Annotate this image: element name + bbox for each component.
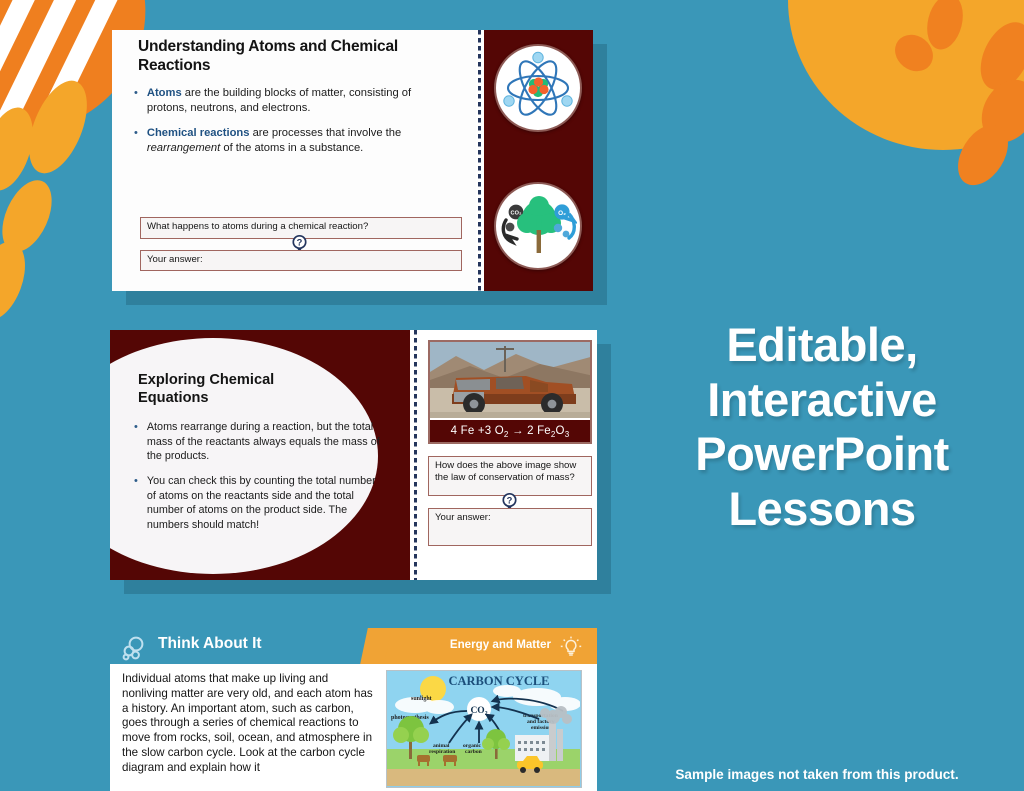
- slide-1-image-pane: CO₂ O₂: [484, 30, 593, 291]
- equation-product-subscript-1: 2: [551, 430, 556, 439]
- svg-text:CARBON CYCLE: CARBON CYCLE: [448, 674, 549, 688]
- list-item: • Atoms rearrange during a reaction, but…: [134, 420, 382, 464]
- slide-2-question-text: How does the above image show the law of…: [435, 460, 576, 483]
- bullet-1-rest: are the building blocks of matter, consi…: [147, 87, 411, 114]
- atom-icon-svg: [501, 51, 575, 125]
- svg-text:respiration: respiration: [429, 749, 456, 755]
- headline-line-3: PowerPoint: [620, 427, 1024, 482]
- amber-ellipse-4: [0, 235, 35, 327]
- slide-1-dotted-divider: [478, 30, 481, 291]
- svg-text:CO₂: CO₂: [470, 706, 487, 716]
- photosynthesis-icon-svg: CO₂ O₂: [499, 190, 577, 262]
- slide-2-bullet-1: Atoms rearrange during a reaction, but t…: [147, 420, 382, 464]
- slide-1-question-text: What happens to atoms during a chemical …: [147, 221, 368, 232]
- slide-2-equation-caption: 4 Fe +3 O2 → 2 Fe2O3: [430, 420, 590, 442]
- lightbulb-icon-svg: [559, 635, 583, 659]
- headline-line-4: Lessons: [620, 482, 1024, 537]
- slide-2-bullet-2: You can check this by counting the total…: [147, 474, 382, 533]
- svg-text:?: ?: [507, 495, 513, 506]
- bubbles-icon: [122, 636, 152, 667]
- bubbles-icon-svg: [122, 636, 152, 662]
- equation-arrow: →: [512, 425, 524, 437]
- list-item: • You can check this by counting the tot…: [134, 474, 382, 533]
- equation-products: 2 Fe: [527, 425, 551, 437]
- photosynthesis-tree-icon: CO₂ O₂: [494, 182, 582, 270]
- bullet-dot-icon: •: [134, 126, 138, 156]
- equation-product-mid: O: [556, 425, 565, 437]
- carbon-cycle-diagram: CARBON CYCLE sunlight photosynthesis ani…: [386, 670, 582, 788]
- slide-1-answer-box[interactable]: Your answer:: [140, 250, 462, 271]
- slide-1-answer-label: Your answer:: [147, 254, 203, 265]
- equation-reactant-subscript: 2: [504, 430, 509, 439]
- bullet-2-emphasis: rearrangement: [147, 142, 220, 154]
- slide-2-equation-card: 4 Fe +3 O2 → 2 Fe2O3: [428, 340, 592, 444]
- bullet-2-rest-before: are processes that involve the: [249, 127, 401, 139]
- slide-1[interactable]: Understanding Atoms and Chemical Reactio…: [112, 30, 593, 291]
- carbon-cycle-svg: CARBON CYCLE sunlight photosynthesis ani…: [387, 671, 580, 786]
- slide-2-bullet-list: • Atoms rearrange during a reaction, but…: [134, 420, 382, 543]
- promo-canvas: Understanding Atoms and Chemical Reactio…: [0, 0, 1024, 791]
- atom-icon: [494, 44, 582, 132]
- slide-2-answer-box[interactable]: Your answer:: [428, 508, 592, 546]
- rusty-truck-photo-svg: [430, 342, 590, 418]
- slide-2-dotted-divider: [414, 330, 417, 580]
- svg-text:?: ?: [297, 237, 303, 248]
- bullet-dot-icon: •: [134, 86, 138, 116]
- slide-1-title: Understanding Atoms and Chemical Reactio…: [138, 38, 438, 76]
- slide-2[interactable]: Exploring Chemical Equations • Atoms rea…: [110, 330, 597, 580]
- slide-1-bullet-2: Chemical reactions are processes that in…: [147, 126, 454, 156]
- lightbulb-icon: [559, 635, 583, 664]
- slide-2-title: Exploring Chemical Equations: [138, 372, 348, 407]
- slide-2-answer-label: Your answer:: [435, 512, 491, 523]
- bullet-dot-icon: •: [134, 420, 138, 464]
- promo-headline: Editable, Interactive PowerPoint Lessons: [620, 318, 1024, 536]
- svg-text:O₂: O₂: [558, 210, 566, 217]
- bullet-1-lead: Atoms: [147, 87, 182, 99]
- bullet-2-lead: Chemical reactions: [147, 127, 250, 139]
- rusty-truck-photo: [430, 342, 590, 418]
- list-item: • Atoms are the building blocks of matte…: [134, 86, 454, 116]
- svg-text:carbon: carbon: [465, 749, 483, 755]
- slide-3-header-title: Think About It: [158, 635, 262, 653]
- bullet-dot-icon: •: [134, 474, 138, 533]
- slide-3-body-text: Individual atoms that make up living and…: [122, 672, 374, 776]
- promo-disclaimer: Sample images not taken from this produc…: [620, 767, 1014, 782]
- equation-product-subscript-2: 3: [565, 430, 570, 439]
- headline-line-1: Editable,: [620, 318, 1024, 373]
- equation-reactants: 4 Fe +3 O: [451, 425, 504, 437]
- list-item: • Chemical reactions are processes that …: [134, 126, 454, 156]
- slide-1-content-pane: Understanding Atoms and Chemical Reactio…: [112, 30, 476, 291]
- slide-3[interactable]: Think About It Energy and Matter Individ…: [110, 628, 597, 791]
- slide-3-header-tab-label: Energy and Matter: [450, 638, 551, 651]
- slide-1-bullet-1: Atoms are the building blocks of matter,…: [147, 86, 454, 116]
- headline-line-2: Interactive: [620, 373, 1024, 428]
- svg-text:sunlight: sunlight: [411, 696, 432, 702]
- bullet-2-rest-after: of the atoms in a substance.: [220, 142, 363, 154]
- slide-2-question-box: How does the above image show the law of…: [428, 456, 592, 496]
- slide-1-bullet-list: • Atoms are the building blocks of matte…: [134, 86, 454, 166]
